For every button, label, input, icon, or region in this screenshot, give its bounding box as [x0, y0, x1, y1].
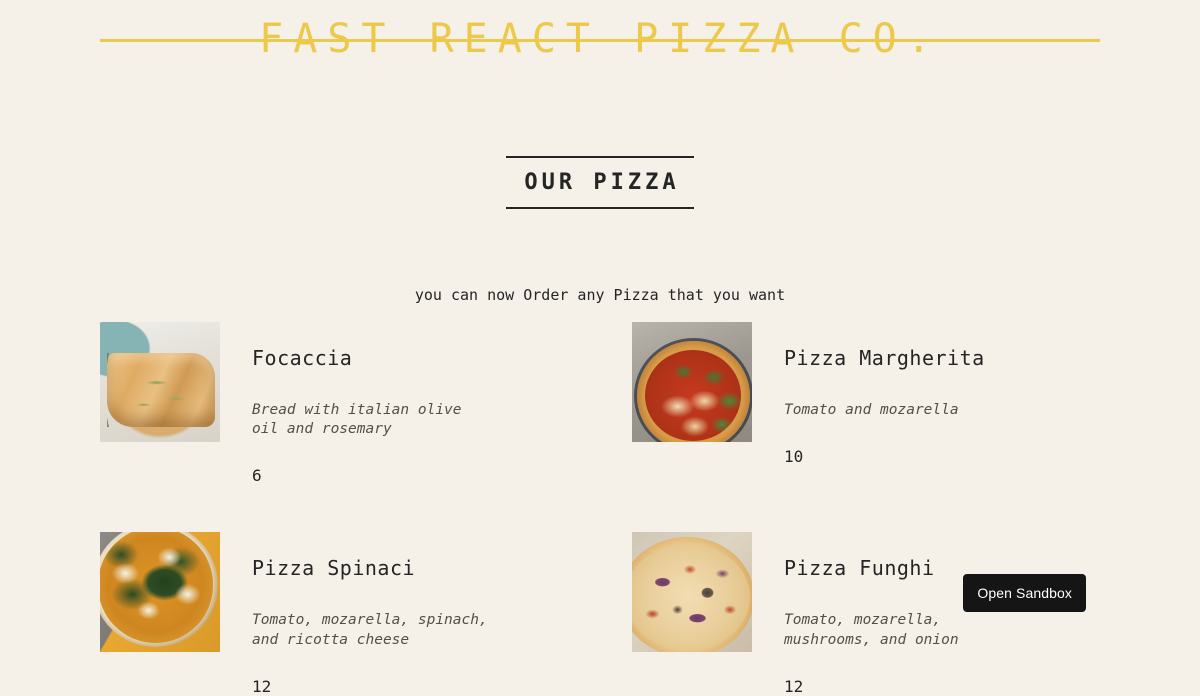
- app-root: Fast React Pizza Co. Our Pizza you can n…: [100, 0, 1100, 630]
- pizza-info: Focaccia Bread with italian olive oil an…: [252, 322, 568, 485]
- pizza-price: 10: [784, 435, 1100, 465]
- pizza-info: Pizza Funghi Tomato, mozarella, mushroom…: [784, 532, 1100, 695]
- pizza-name: Pizza Spinaci: [252, 556, 568, 580]
- pizza-ingredients: Bread with italian olive oil and rosemar…: [252, 401, 492, 440]
- pizza-spinaci-photo: [100, 532, 220, 652]
- pizza-list-item[interactable]: Focaccia Bread with italian olive oil an…: [100, 322, 568, 485]
- pizza-ingredients: Tomato and mozarella: [784, 401, 1024, 421]
- pizza-price: 12: [252, 665, 568, 695]
- pizza-list-item[interactable]: Pizza Funghi Tomato, mozarella, mushroom…: [632, 532, 1100, 695]
- pizza-spinaci-image-art: [100, 532, 220, 652]
- pizza-list: Focaccia Bread with italian olive oil an…: [100, 322, 1100, 695]
- pizza-ingredients: Tomato, mozarella, spinach, and ricotta …: [252, 611, 492, 650]
- pizza-list-item[interactable]: Pizza Margherita Tomato and mozarella 10: [632, 322, 1100, 485]
- page-title: Fast React Pizza Co.: [253, 19, 947, 59]
- pizza-price: 12: [784, 665, 1100, 695]
- pizza-margherita-photo: [632, 322, 752, 442]
- pizza-info: Pizza Margherita Tomato and mozarella 10: [784, 322, 1100, 465]
- pizza-list-item[interactable]: Pizza Spinaci Tomato, mozarella, spinach…: [100, 532, 568, 695]
- site-header: Fast React Pizza Co.: [100, 0, 1100, 96]
- menu-section: Our Pizza you can now Order any Pizza th…: [100, 96, 1100, 695]
- pizza-ingredients: Tomato, mozarella, mushrooms, and onion: [784, 611, 1024, 650]
- pizza-funghi-photo: [632, 532, 752, 652]
- pizza-price: 6: [252, 454, 568, 484]
- pizza-funghi-image-art: [632, 532, 752, 652]
- focaccia-image-art: [100, 322, 220, 442]
- pizza-info: Pizza Spinaci Tomato, mozarella, spinach…: [252, 532, 568, 695]
- pizza-name: Pizza Margherita: [784, 346, 1100, 370]
- menu-subtitle: you can now Order any Pizza that you wan…: [415, 283, 785, 307]
- focaccia-photo: [100, 322, 220, 442]
- open-sandbox-button[interactable]: Open Sandbox: [963, 574, 1086, 612]
- menu-heading: Our Pizza: [506, 156, 693, 209]
- pizza-margherita-image-art: [632, 322, 752, 442]
- pizza-name: Focaccia: [252, 346, 568, 370]
